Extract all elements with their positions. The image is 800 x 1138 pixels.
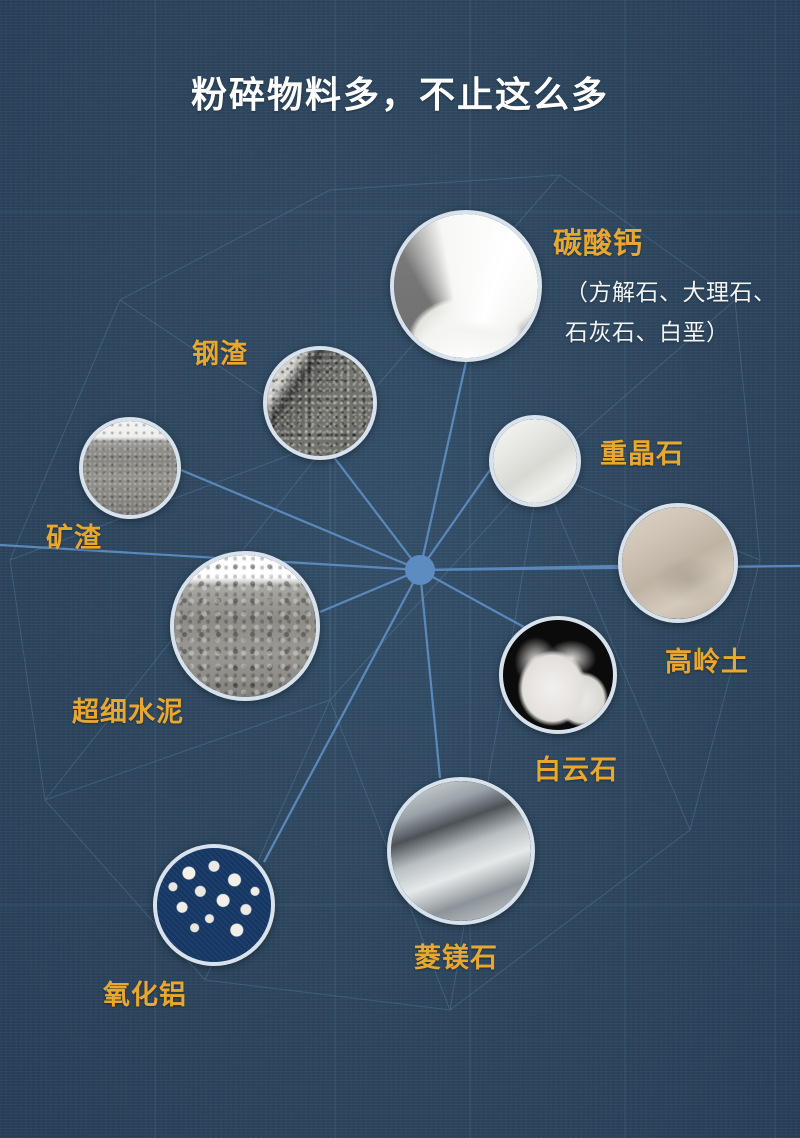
- label-steel-slag: 钢渣: [192, 332, 248, 371]
- label-ultrafine-cement: 超细水泥: [72, 690, 184, 729]
- label-alumina: 氧化铝: [103, 973, 187, 1012]
- gray-cement-powder-photo: [174, 555, 316, 697]
- page-title: 粉碎物料多，不止这么多: [0, 66, 800, 118]
- label-kaolin: 高岭土: [665, 640, 749, 679]
- sublabel-calcium-carbonate: （方解石、大理石、 石灰石、白垩）: [565, 272, 777, 352]
- infographic-canvas: 粉碎物料多，不止这么多 碳酸钙 （方解石、大理石、 石灰石、白垩） 钢渣 矿渣 …: [0, 0, 800, 1138]
- gray-coarse-powder-photo: [83, 421, 177, 515]
- label-mineral-slag: 矿渣: [46, 516, 102, 555]
- material-photo-calcium-carbonate: [390, 210, 542, 362]
- label-barite: 重晶石: [600, 432, 684, 471]
- beige-clay-rocks-photo: [622, 507, 734, 619]
- material-photo-alumina: [153, 844, 275, 966]
- white-crystal-on-black-photo: [503, 620, 613, 730]
- white-balls-on-blue-photo: [157, 848, 271, 962]
- material-photo-ultrafine-cement: [170, 551, 320, 701]
- gray-granules-photo: [267, 350, 373, 456]
- label-calcium-carbonate: 碳酸钙: [553, 220, 643, 262]
- white-powder-pile-photo: [394, 214, 538, 358]
- label-magnesite: 菱镁石: [414, 936, 498, 975]
- white-rock-chunks-photo: [493, 419, 577, 503]
- material-photo-magnesite: [387, 777, 535, 925]
- label-dolomite: 白云石: [534, 748, 618, 787]
- material-photo-barite: [489, 415, 581, 507]
- material-photo-dolomite: [499, 616, 617, 734]
- material-photo-mineral-slag: [79, 417, 181, 519]
- material-photo-steel-slag: [263, 346, 377, 460]
- gray-white-boulders-photo: [391, 781, 531, 921]
- material-photo-kaolin: [618, 503, 738, 623]
- center-node: [405, 555, 435, 585]
